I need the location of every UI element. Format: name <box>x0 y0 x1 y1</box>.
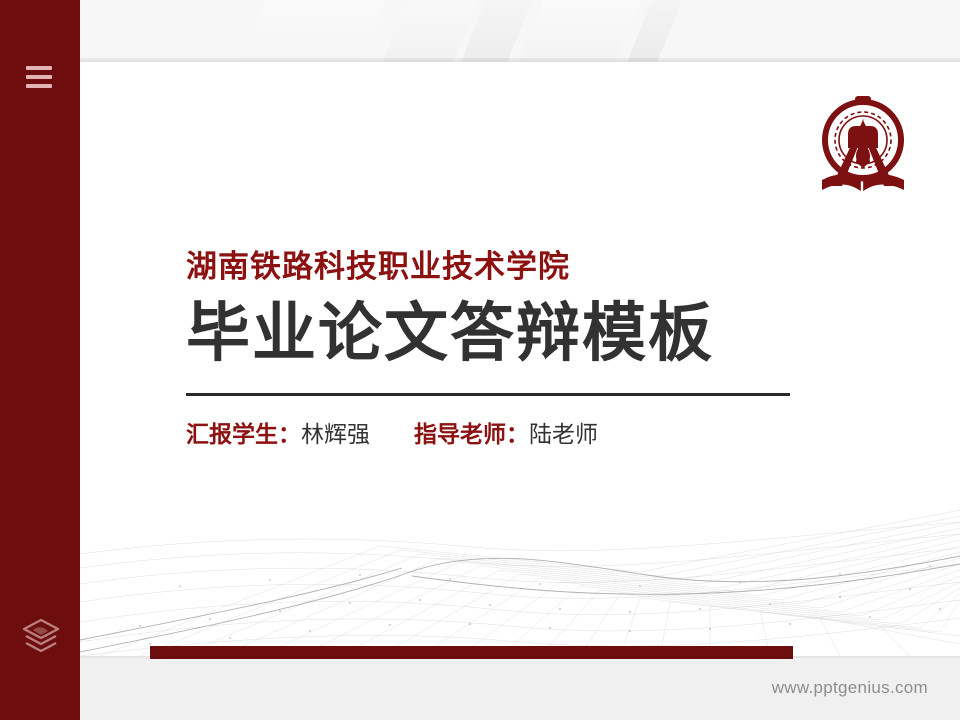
hamburger-menu-icon[interactable] <box>26 66 52 88</box>
top-decorative-band <box>0 0 960 62</box>
site-url[interactable]: www.pptgenius.com <box>772 678 928 698</box>
left-rail <box>0 0 80 720</box>
ribbon-shape <box>218 0 403 62</box>
menu-bar <box>26 66 52 70</box>
student-label: 汇报学生： <box>186 421 301 447</box>
university-emblem-icon <box>808 90 918 200</box>
advisor-name: 陆老师 <box>529 421 598 447</box>
byline: 汇报学生：林辉强指导老师：陆老师 <box>186 420 886 450</box>
wireframe-mesh-decoration <box>80 476 960 656</box>
slide-footer: www.pptgenius.com <box>80 656 960 720</box>
title-text-block: 湖南铁路科技职业技术学院 毕业论文答辩模板 汇报学生：林辉强指导老师：陆老师 <box>186 248 886 450</box>
title-divider <box>186 393 790 396</box>
student-name: 林辉强 <box>301 421 370 447</box>
page-title: 毕业论文答辩模板 <box>186 297 886 371</box>
menu-bar <box>26 75 52 79</box>
school-name: 湖南铁路科技职业技术学院 <box>186 248 886 285</box>
accent-bar <box>150 646 793 659</box>
presentation-slide: 湖南铁路科技职业技术学院 毕业论文答辩模板 汇报学生：林辉强指导老师：陆老师 w… <box>0 0 960 720</box>
slide-content-card: 湖南铁路科技职业技术学院 毕业论文答辩模板 汇报学生：林辉强指导老师：陆老师 <box>80 62 960 656</box>
menu-bar <box>26 84 52 88</box>
advisor-label: 指导老师： <box>414 421 529 447</box>
layers-stack-icon[interactable] <box>20 616 62 658</box>
